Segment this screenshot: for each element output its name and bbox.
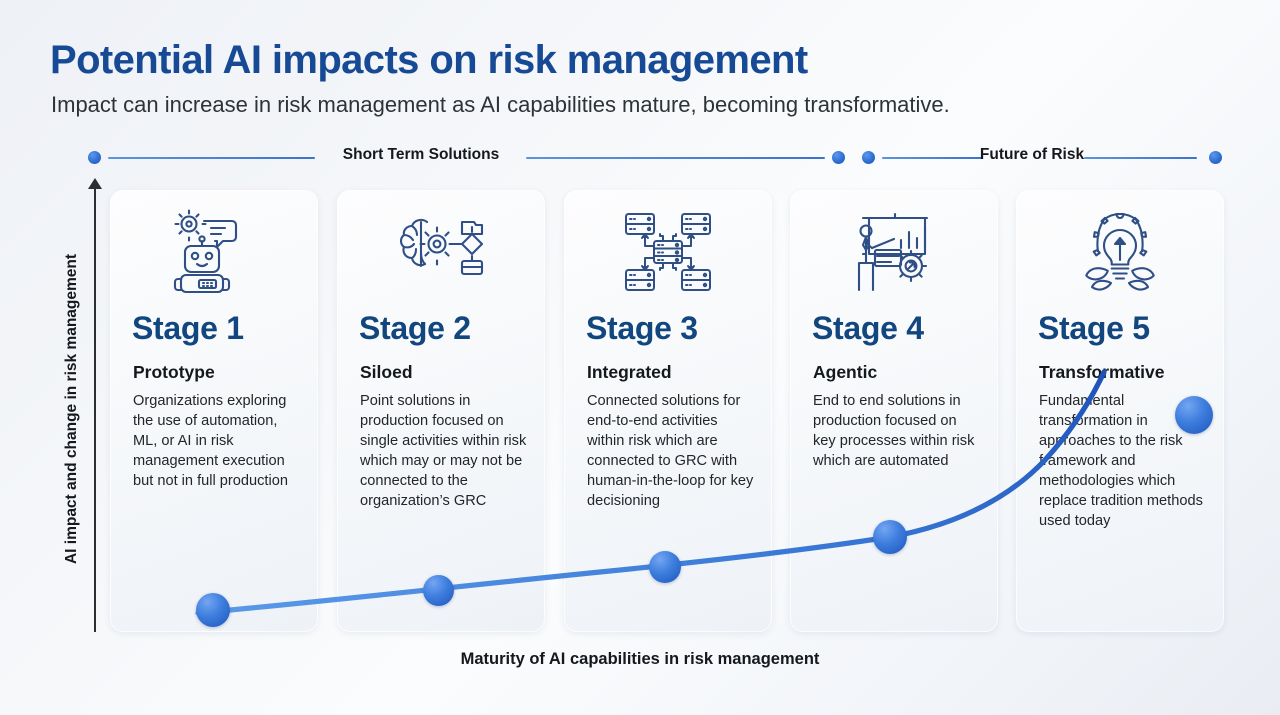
timeline-line-right-b: [1084, 157, 1197, 159]
stage-description: Organizations exploring the use of autom…: [133, 392, 301, 492]
timeline-line-left-a: [108, 157, 315, 159]
x-axis-label: Maturity of AI capabilities in risk mana…: [0, 650, 1280, 669]
curve-point-stage-2: [423, 575, 454, 606]
robot-chat-icon: [110, 204, 318, 300]
curve-point-stage-4: [873, 520, 907, 554]
brain-gear-flowchart-icon: [337, 204, 545, 300]
stage-description: Point solutions in production focused on…: [360, 392, 528, 512]
curve-point-stage-1: [196, 593, 230, 627]
stage-subtitle: Agentic: [813, 362, 877, 383]
stage-subtitle: Transformative: [1039, 362, 1164, 383]
y-axis-label: AI impact and change in risk management: [63, 219, 81, 599]
infographic-root: Potential AI impacts on risk management …: [0, 0, 1280, 715]
timeline-label-short-term: Short Term Solutions: [343, 146, 499, 164]
timeline-dot-mid-left: [832, 151, 845, 164]
stage-title: Stage 5: [1038, 310, 1150, 347]
page-title: Potential AI impacts on risk management: [50, 38, 808, 83]
y-axis-line: [94, 186, 96, 632]
curve-point-stage-5: [1175, 396, 1213, 434]
stage-subtitle: Siloed: [360, 362, 413, 383]
stage-title: Stage 2: [359, 310, 471, 347]
timeline-dot-start: [88, 151, 101, 164]
timeline-line-right-a: [882, 157, 982, 159]
page-subtitle: Impact can increase in risk management a…: [51, 92, 950, 118]
stage-subtitle: Prototype: [133, 362, 215, 383]
stage-title: Stage 4: [812, 310, 924, 347]
server-network-icon: [564, 204, 772, 300]
curve-point-stage-3: [649, 551, 681, 583]
stage-title: Stage 1: [132, 310, 244, 347]
stage-title: Stage 3: [586, 310, 698, 347]
timeline: Short Term Solutions Future of Risk: [88, 146, 1228, 170]
timeline-label-future-of-risk: Future of Risk: [980, 146, 1084, 164]
stage-description: Connected solutions for end-to-end activ…: [587, 392, 755, 512]
lightbulb-gear-laurel-icon: [1016, 204, 1224, 300]
stage-description: End to end solutions in production focus…: [813, 392, 981, 472]
timeline-dot-end: [1209, 151, 1222, 164]
stage-subtitle: Integrated: [587, 362, 672, 383]
stage-card-4[interactable]: Stage 4 Agentic End to end solutions in …: [790, 190, 998, 632]
stage-card-1[interactable]: Stage 1 Prototype Organizations explorin…: [110, 190, 318, 632]
stage-card-2[interactable]: Stage 2 Siloed Point solutions in produc…: [337, 190, 545, 632]
timeline-dot-mid-right: [862, 151, 875, 164]
presenter-chart-gear-icon: [790, 204, 998, 300]
timeline-line-left-b: [526, 157, 825, 159]
